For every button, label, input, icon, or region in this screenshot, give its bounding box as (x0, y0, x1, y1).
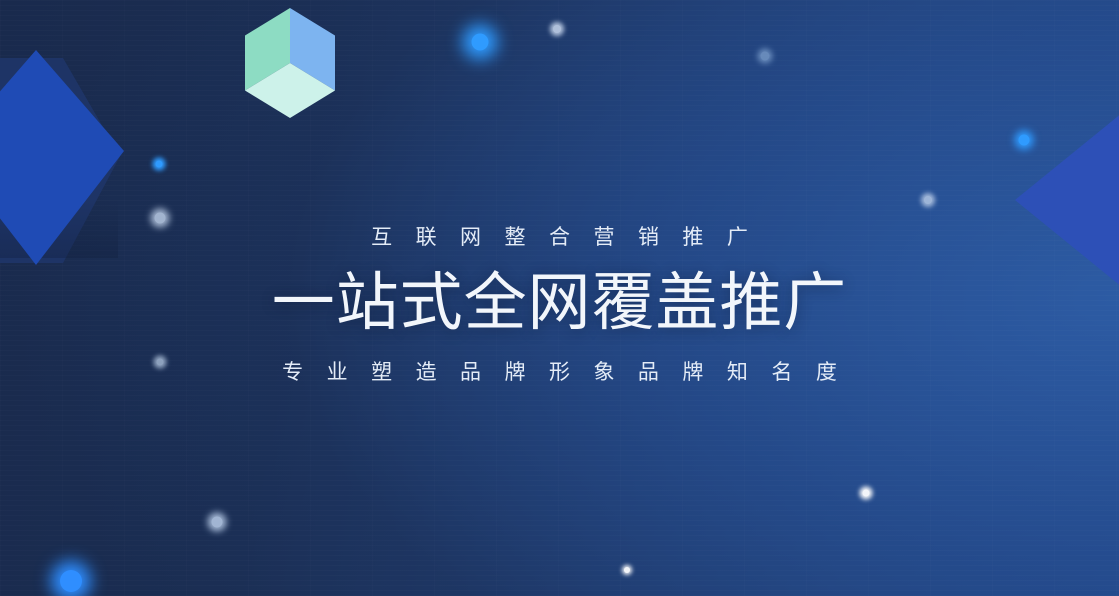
banner-eyebrow: 互 联 网 整 合 营 销 推 广 (0, 225, 1119, 250)
particle-blue-small (156, 161, 163, 168)
banner-text-block: 互 联 网 整 合 营 销 推 广 一站式全网覆盖推广 专 业 塑 造 品 牌 … (0, 225, 1119, 385)
particle-white-small (553, 25, 561, 33)
banner-tagline: 专 业 塑 造 品 牌 形 象 品 牌 知 名 度 (0, 360, 1119, 385)
particle-blue-right (1019, 135, 1030, 146)
banner-headline: 一站式全网覆盖推广 (0, 267, 1119, 339)
particle-faint-1 (761, 52, 770, 61)
cube-logo (245, 8, 335, 118)
banner-canvas: 互 联 网 整 合 营 销 推 广 一站式全网覆盖推广 专 业 塑 造 品 牌 … (0, 0, 1119, 596)
particle-blue-bottom (60, 570, 82, 592)
particle-blue-large (472, 34, 489, 51)
particle-white-dot-1 (624, 567, 630, 573)
particle-white-mid (155, 213, 166, 224)
particle-white-right (924, 196, 932, 204)
particle-white-midlow (212, 517, 223, 528)
particle-white-dot-2 (863, 490, 870, 497)
